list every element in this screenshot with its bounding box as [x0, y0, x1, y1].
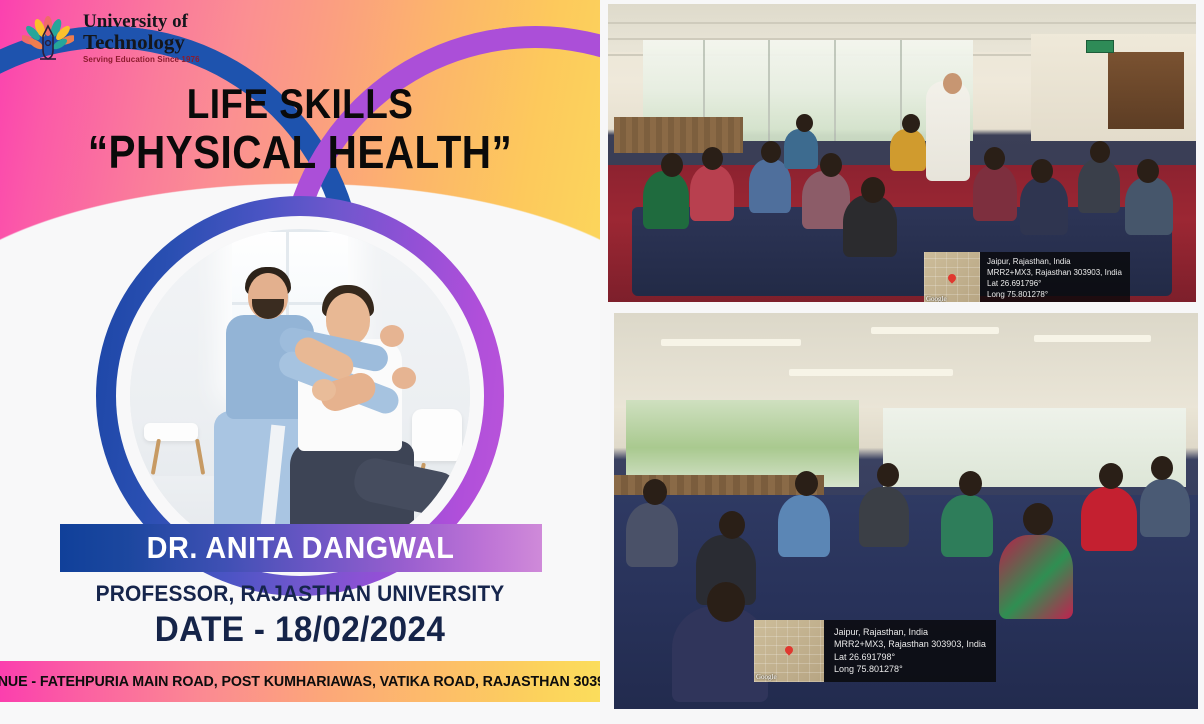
gps-longitude: Long 75.801278° [834, 663, 986, 675]
gps-longitude: Long 75.801278° [987, 289, 1122, 300]
gps-minimap: Google [754, 620, 824, 682]
participant-head [1023, 503, 1053, 535]
logo-line-2: Technology [83, 32, 200, 53]
glass-wall [883, 408, 1187, 487]
instructor-figure [926, 81, 970, 181]
venue-text: VENUE - FATEHPURIA MAIN ROAD, POST KUMHA… [0, 673, 600, 690]
gps-latitude: Lat 26.691798° [834, 651, 986, 663]
participant-head [719, 511, 745, 539]
logo-line-1: University of [83, 12, 200, 31]
wooden-cabinet [1108, 52, 1184, 129]
speaker-name-bar: DR. ANITA DANGWAL [60, 524, 542, 572]
poster-title-line-1: LIFE SKILLS [36, 80, 564, 128]
ceiling-light [789, 369, 953, 376]
participant-head [959, 471, 982, 496]
gps-city: Jaipur, Rajasthan, India [987, 256, 1122, 267]
window-greenery [626, 400, 860, 487]
poster-left-panel: University of Technology Serving Educati… [0, 0, 600, 724]
participant-head [1099, 463, 1123, 489]
participant [690, 165, 734, 221]
yoga-session-photo-bottom: Google Jaipur, Rajasthan, India MRR2+MX3… [614, 313, 1198, 709]
participant [973, 165, 1017, 221]
ceiling-light [871, 327, 999, 334]
participant-head [761, 141, 781, 163]
google-watermark: Google [926, 295, 947, 302]
participant [1020, 177, 1068, 235]
patient-hand [312, 379, 336, 401]
therapist-hand [380, 325, 404, 347]
university-logo: University of Technology Serving Educati… [22, 12, 200, 64]
participant [1081, 487, 1137, 551]
participant [1140, 479, 1190, 537]
speaker-designation: PROFESSOR, RAJASTHAN UNIVERSITY [15, 581, 585, 607]
participant-foreground [999, 535, 1073, 619]
gps-text-block: Jaipur, Rajasthan, India MRR2+MX3, Rajas… [824, 620, 996, 682]
participant [643, 171, 689, 229]
participant-head [861, 177, 885, 203]
wood-panelling [614, 117, 743, 153]
venue-bar: VENUE - FATEHPURIA MAIN ROAD, POST KUMHA… [0, 661, 600, 702]
gps-city: Jaipur, Rajasthan, India [834, 626, 986, 638]
event-poster: University of Technology Serving Educati… [0, 0, 1204, 724]
participant-head [661, 153, 683, 177]
participant-head [1151, 456, 1173, 480]
physiotherapy-photo [130, 229, 470, 563]
participant [859, 487, 909, 547]
participant [784, 129, 818, 169]
yoga-session-photo-top: Google Jaipur, Rajasthan, India MRR2+MX3… [608, 4, 1196, 302]
event-date: DATE - 18/02/2024 [15, 610, 585, 650]
photo-table [144, 423, 198, 441]
poster-title-line-2: “PHYSICAL HEALTH” [36, 125, 564, 179]
therapist-hand [392, 367, 416, 389]
participant-head [702, 147, 723, 170]
instructor-head [943, 73, 962, 94]
participant [778, 495, 830, 557]
participant [843, 195, 897, 257]
ceiling-light [1034, 335, 1151, 342]
gps-latitude: Lat 26.691796° [987, 278, 1122, 289]
gps-pluscode: MRR2+MX3, Rajasthan 303903, India [987, 267, 1122, 278]
logo-tagline: Serving Education Since 1976 [83, 56, 200, 64]
participant [941, 495, 993, 557]
gps-minimap: Google [924, 252, 980, 302]
participant [1078, 159, 1120, 213]
logo-text-block: University of Technology Serving Educati… [83, 12, 200, 64]
participant-head [1137, 159, 1159, 183]
participant-head [820, 153, 842, 177]
pen-nib-leaves-icon [22, 12, 74, 64]
ceiling [614, 313, 1198, 408]
gps-stamp-overlay: Google Jaipur, Rajasthan, India MRR2+MX3… [754, 620, 996, 682]
google-watermark: Google [756, 673, 777, 681]
speaker-name: DR. ANITA DANGWAL [147, 530, 455, 566]
participant [626, 503, 678, 567]
participant [1125, 177, 1173, 235]
exit-sign [1086, 40, 1114, 53]
ceiling-light [661, 339, 801, 346]
photo-chair [412, 409, 462, 461]
gps-pluscode: MRR2+MX3, Rajasthan 303903, India [834, 638, 986, 650]
gps-text-block: Jaipur, Rajasthan, India MRR2+MX3, Rajas… [980, 252, 1130, 302]
gps-stamp-overlay: Google Jaipur, Rajasthan, India MRR2+MX3… [924, 252, 1130, 302]
window-frame-bar [232, 229, 348, 232]
participant [890, 129, 926, 171]
poster-right-panel: Google Jaipur, Rajasthan, India MRR2+MX3… [600, 0, 1204, 724]
